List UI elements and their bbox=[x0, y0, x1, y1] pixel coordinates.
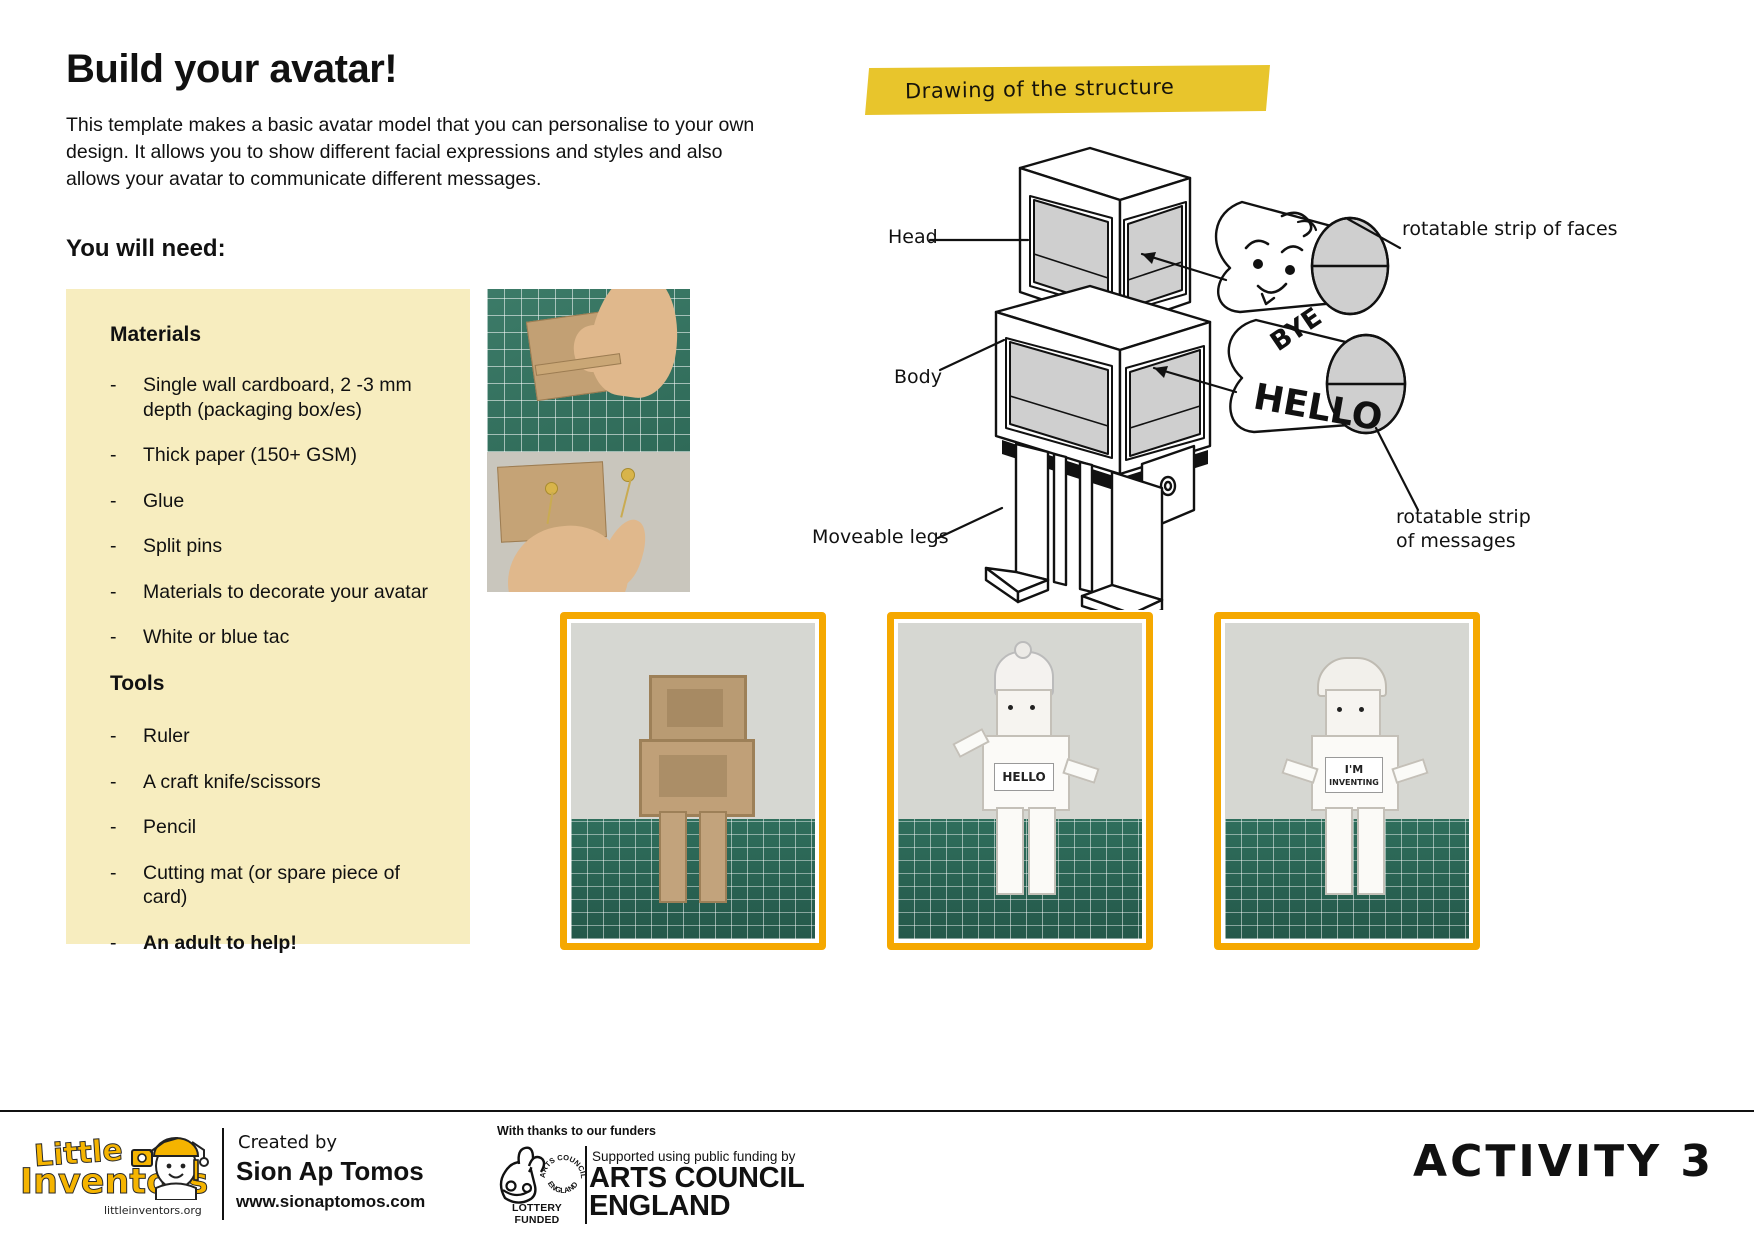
intro-column: Build your avatar! This template makes a… bbox=[66, 48, 786, 263]
label-body: Body bbox=[894, 366, 942, 390]
arts-council-line-2: ENGLAND bbox=[589, 1192, 805, 1220]
footer-divider-2 bbox=[585, 1146, 587, 1224]
material-label: Thick paper (150+ GSM) bbox=[143, 443, 444, 468]
label-rotatable-messages: rotatable strip of messages bbox=[1396, 506, 1531, 554]
lottery-funded-label: LOTTERY FUNDED bbox=[489, 1202, 585, 1226]
list-item: - Thick paper (150+ GSM) bbox=[110, 443, 444, 468]
inventor-character-icon bbox=[130, 1126, 214, 1200]
photo-frame bbox=[560, 612, 826, 950]
bullet-dash: - bbox=[110, 580, 143, 605]
label-moveable-legs: Moveable legs bbox=[812, 526, 949, 550]
list-item: - A craft knife/scissors bbox=[110, 770, 444, 795]
author-website[interactable]: www.sionaptomos.com bbox=[236, 1192, 425, 1212]
material-label: Split pins bbox=[143, 534, 444, 559]
little-inventors-logo[interactable]: Little Inventors littleinventors.org bbox=[18, 1126, 214, 1222]
bullet-dash: - bbox=[110, 625, 143, 650]
split-pin bbox=[621, 468, 635, 482]
list-item: - White or blue tac bbox=[110, 625, 444, 650]
materials-panel: Materials - Single wall cardboard, 2 -3 … bbox=[66, 289, 470, 944]
bullet-dash: - bbox=[110, 443, 143, 468]
logo-website[interactable]: littleinventors.org bbox=[104, 1204, 202, 1217]
tools-heading: Tools bbox=[110, 672, 444, 696]
list-item: - Single wall cardboard, 2 -3 mm depth (… bbox=[110, 373, 444, 422]
list-item: - Pencil bbox=[110, 815, 444, 840]
footer-divider-1 bbox=[222, 1128, 224, 1220]
photo-step-3: I'M INVENTING bbox=[1214, 612, 1480, 950]
svg-text:ARTS COUNCIL: ARTS COUNCIL bbox=[538, 1153, 585, 1179]
list-item: - Cutting mat (or spare piece of card) bbox=[110, 861, 444, 910]
photo-frame bbox=[1214, 612, 1480, 950]
list-item: - An adult to help! bbox=[110, 931, 444, 956]
svg-text:ENGLAND: ENGLAND bbox=[546, 1179, 580, 1195]
lottery-funded-logo: ARTS COUNCIL ENGLAND LOTTERY FUNDED bbox=[489, 1144, 585, 1226]
funders-label: With thanks to our funders bbox=[497, 1124, 656, 1138]
photo-step-2: HELLO bbox=[887, 612, 1153, 950]
material-label: White or blue tac bbox=[143, 625, 444, 650]
tool-label: Ruler bbox=[143, 724, 444, 749]
bullet-dash: - bbox=[110, 534, 143, 559]
tool-label: Pencil bbox=[143, 815, 444, 840]
arts-council-name: ARTS COUNCIL ENGLAND bbox=[589, 1164, 805, 1221]
material-label: Single wall cardboard, 2 -3 mm depth (pa… bbox=[143, 373, 444, 422]
structure-linework: HELLO BYE bbox=[790, 40, 1754, 610]
intro-paragraph: This template makes a basic avatar model… bbox=[66, 112, 766, 193]
materials-heading: Materials bbox=[110, 323, 444, 347]
arts-council-line-1: ARTS COUNCIL bbox=[589, 1164, 805, 1192]
bullet-dash: - bbox=[110, 489, 143, 514]
photo-step-1 bbox=[560, 612, 826, 950]
bullet-dash: - bbox=[110, 815, 143, 840]
photo-cardboard-sample bbox=[487, 289, 690, 452]
tool-label: Cutting mat (or spare piece of card) bbox=[143, 861, 444, 910]
you-will-need-heading: You will need: bbox=[66, 235, 786, 263]
bullet-dash: - bbox=[110, 724, 143, 749]
list-item: - Materials to decorate your avatar bbox=[110, 580, 444, 605]
label-head: Head bbox=[888, 226, 938, 250]
label-rotatable-faces: rotatable strip of faces bbox=[1402, 218, 1618, 242]
page-footer: Little Inventors littleinventors.org Cre… bbox=[0, 1110, 1754, 1240]
created-by-label: Created by bbox=[238, 1132, 337, 1153]
tool-label: A craft knife/scissors bbox=[143, 770, 444, 795]
photo-frame bbox=[887, 612, 1153, 950]
material-label: Materials to decorate your avatar bbox=[143, 580, 444, 605]
poster-page: Build your avatar! This template makes a… bbox=[0, 0, 1754, 1240]
bullet-dash: - bbox=[110, 770, 143, 795]
bullet-dash: - bbox=[110, 931, 143, 956]
bullet-dash: - bbox=[110, 373, 143, 422]
crossed-fingers-icon: ARTS COUNCIL ENGLAND bbox=[489, 1144, 585, 1206]
structure-diagram: Drawing of the structure bbox=[790, 40, 1754, 610]
list-item: - Ruler bbox=[110, 724, 444, 749]
list-item: - Split pins bbox=[110, 534, 444, 559]
photo-row: HELLO I'M INVENTING bbox=[560, 612, 1740, 950]
photo-split-pins bbox=[487, 452, 690, 592]
author-name: Sion Ap Tomos bbox=[236, 1156, 424, 1187]
material-label: Glue bbox=[143, 489, 444, 514]
page-title: Build your avatar! bbox=[66, 48, 786, 90]
bullet-dash: - bbox=[110, 861, 143, 910]
activity-number: ACTIVITY 3 bbox=[1413, 1136, 1714, 1187]
list-item: - Glue bbox=[110, 489, 444, 514]
tool-label: An adult to help! bbox=[143, 931, 444, 956]
